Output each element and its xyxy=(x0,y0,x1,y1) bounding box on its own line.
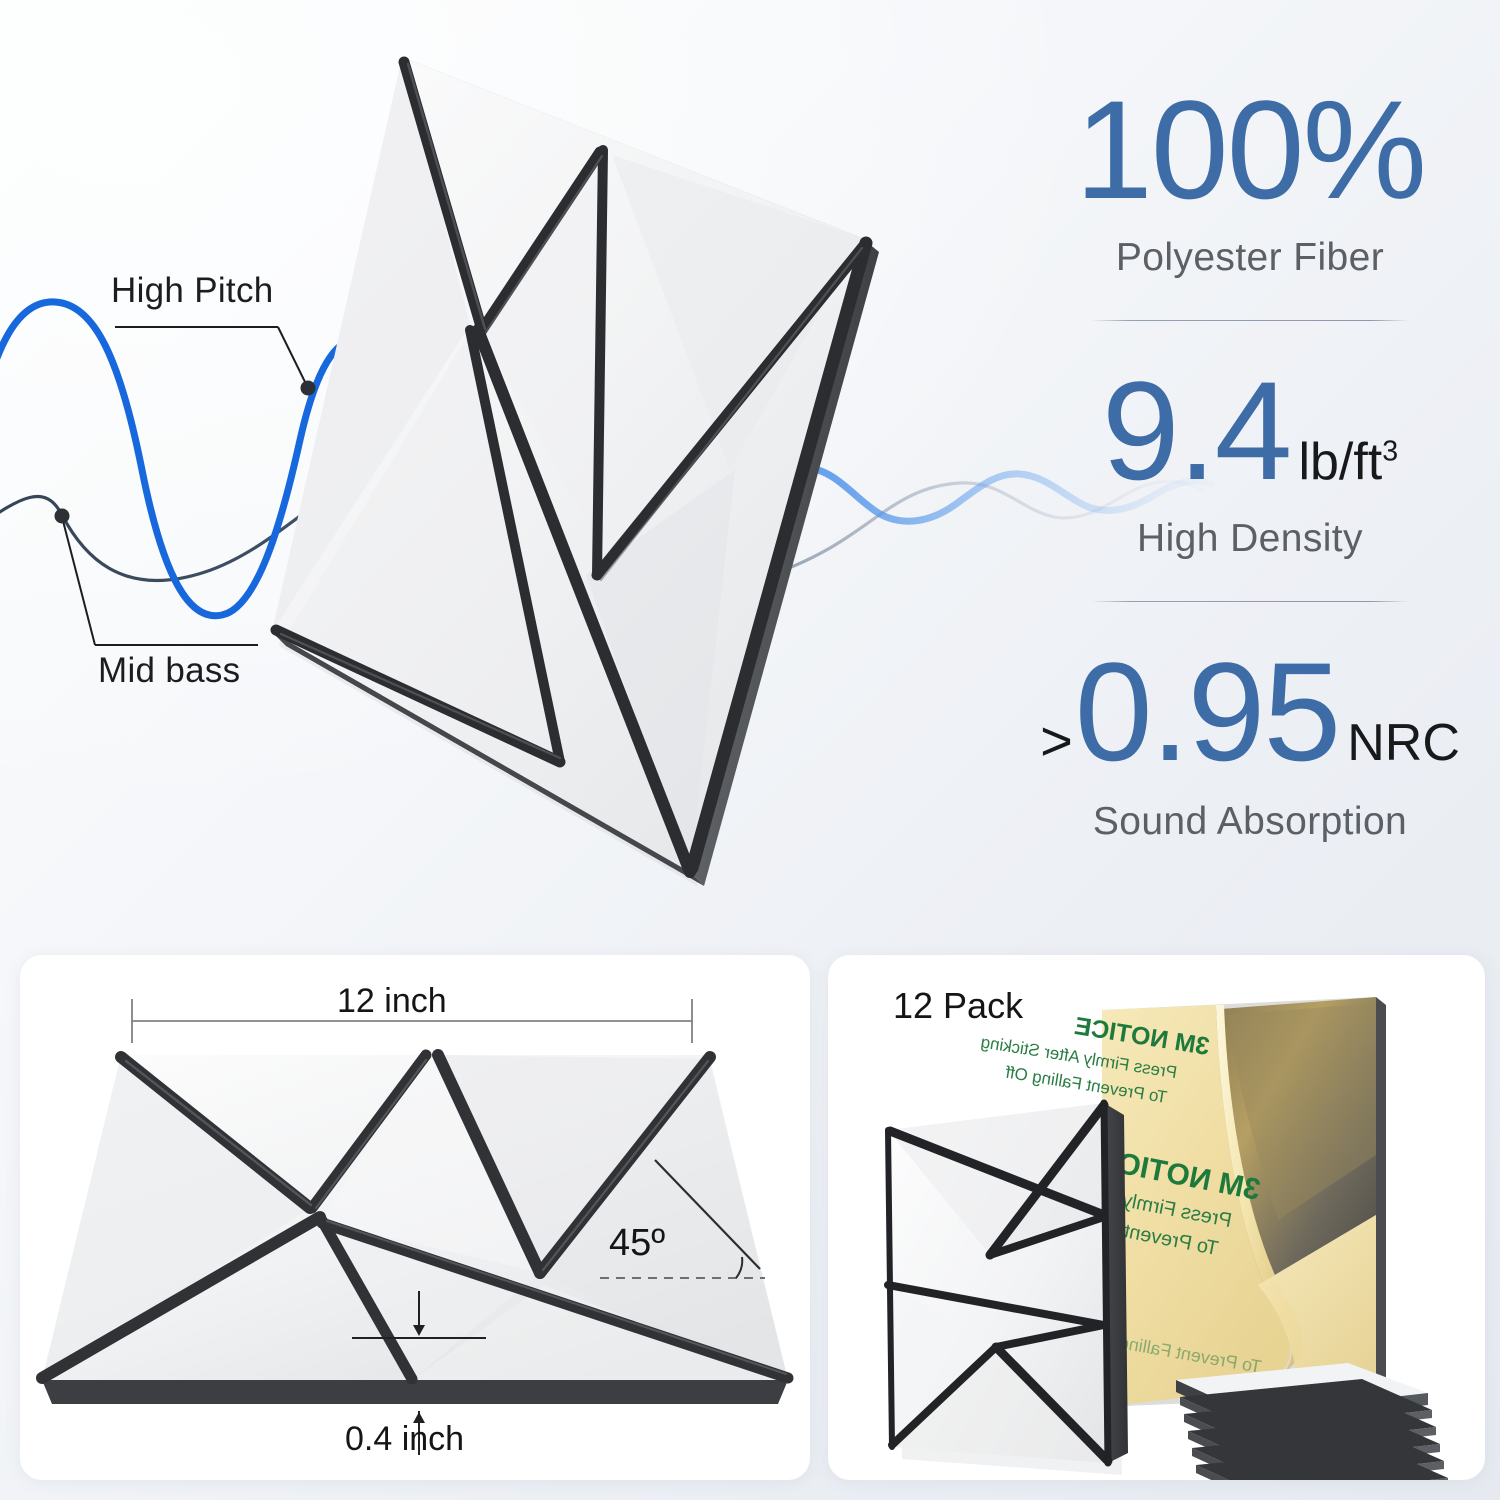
spec-value-polyester: 100% xyxy=(1020,80,1480,220)
spec-polyester: 100% Polyester Fiber xyxy=(1020,80,1480,280)
dimensions-card xyxy=(20,955,810,1480)
wave-label-mid-bass: Mid bass xyxy=(98,651,240,691)
spec-number: 9.4 xyxy=(1102,361,1291,501)
spec-value-density: 9.4lb/ft3 xyxy=(1020,361,1480,501)
width-dimension-label: 12 inch xyxy=(337,982,447,1021)
dimensions-diagram xyxy=(20,955,810,1480)
pack-quantity-label: 12 Pack xyxy=(893,985,1023,1027)
spec-caption-density: High Density xyxy=(1020,517,1480,561)
pack-card: 3M NOTICE Press Firmly After Sticking To… xyxy=(828,955,1485,1480)
spec-percent-symbol: % xyxy=(1303,80,1425,220)
spec-divider-2 xyxy=(1091,601,1409,602)
spec-number: 0.95 xyxy=(1075,642,1339,782)
hero-section: High Pitch Mid bass 100% Polyester Fiber… xyxy=(0,0,1500,940)
spec-greater-than-symbol: > xyxy=(1040,713,1073,769)
angle-dimension-label: 45º xyxy=(609,1222,665,1265)
spec-caption-polyester: Polyester Fiber xyxy=(1020,236,1480,280)
spec-divider-1 xyxy=(1091,320,1409,321)
spec-unit: NRC xyxy=(1347,717,1460,769)
thickness-dimension-label: 0.4 inch xyxy=(345,1420,464,1459)
callout-high-pitch xyxy=(115,327,316,396)
acoustic-panel-hero xyxy=(272,57,879,886)
spec-unit-text: lb/ft xyxy=(1298,433,1382,491)
panel-perspective xyxy=(42,1055,788,1404)
mid-bass-marker xyxy=(55,509,70,524)
panel-stack xyxy=(1176,1363,1448,1480)
spec-value-nrc: >0.95NRC xyxy=(1020,642,1480,782)
spec-list: 100% Polyester Fiber 9.4lb/ft3 High Dens… xyxy=(1020,80,1480,910)
spec-unit: lb/ft3 xyxy=(1298,436,1398,488)
pack-illustration: 3M NOTICE Press Firmly After Sticking To… xyxy=(828,955,1485,1480)
high-pitch-marker xyxy=(301,381,316,396)
infographic-root: High Pitch Mid bass 100% Polyester Fiber… xyxy=(0,0,1500,1500)
spec-nrc: >0.95NRC Sound Absorption xyxy=(1020,642,1480,844)
spec-density: 9.4lb/ft3 High Density xyxy=(1020,361,1480,561)
front-panel xyxy=(888,1103,1128,1475)
wave-label-high-pitch: High Pitch xyxy=(111,271,274,311)
spec-caption-nrc: Sound Absorption xyxy=(1020,800,1480,844)
spec-number: 100 xyxy=(1075,80,1303,220)
spec-unit-superscript: 3 xyxy=(1382,436,1398,468)
